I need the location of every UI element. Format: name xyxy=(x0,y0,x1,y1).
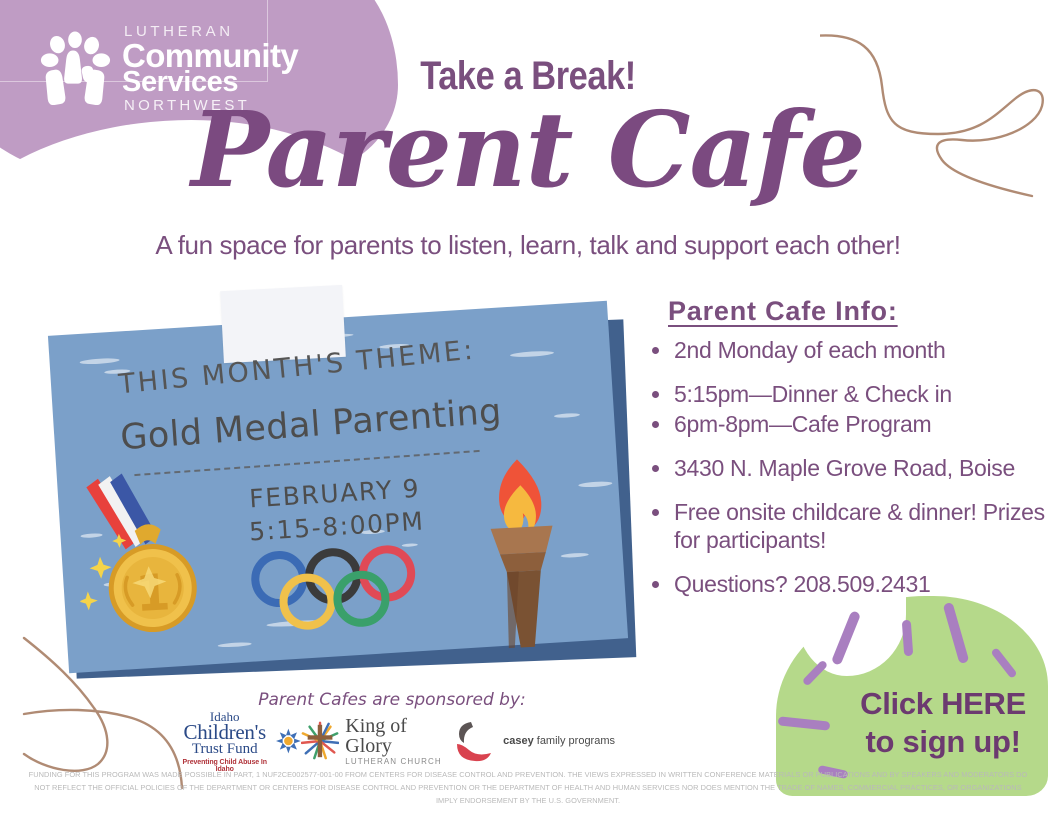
svg-text:1: 1 xyxy=(134,563,172,623)
kog-subtitle: LUTHERAN CHURCH xyxy=(345,758,453,766)
parent-cafe-info-panel: Parent Cafe Info: 2nd Monday of each mon… xyxy=(648,296,1046,614)
theme-date-time: FEBRUARY 9 5:15-8:00PM xyxy=(246,473,425,549)
sponsor-king-of-glory: King of Glory LUTHERAN CHURCH xyxy=(301,716,453,766)
sponsor-casey-family-programs: casey family programs xyxy=(453,718,615,764)
flyer-canvas: LUTHERAN Community Services NORTHWEST Ta… xyxy=(0,0,1056,816)
casey-swoosh-icon xyxy=(453,718,495,764)
gold-medal-icon: 1 xyxy=(74,466,233,644)
ictf-line-3: Trust Fund xyxy=(175,742,274,757)
list-item: 3430 N. Maple Grove Road, Boise xyxy=(648,454,1046,482)
casey-name: casey xyxy=(503,735,534,747)
kog-name: King of Glory xyxy=(345,716,453,756)
list-item: 2nd Monday of each month xyxy=(648,336,1046,364)
ictf-flower-icon xyxy=(276,728,301,754)
sponsor-idaho-childrens-trust-fund: Idaho Children's Trust Fund Preventing C… xyxy=(175,710,301,773)
list-item: Questions? 208.509.2431 xyxy=(648,570,1046,598)
tagline: A fun space for parents to listen, learn… xyxy=(0,230,1056,261)
sign-up-line-2: to sign up! xyxy=(860,723,1026,762)
olympic-torch-icon xyxy=(457,452,597,659)
info-list: 2nd Monday of each month 5:15pm—Dinner &… xyxy=(648,336,1046,598)
king-of-glory-cross-icon xyxy=(301,721,339,761)
sign-up-link[interactable]: Click HERE to sign up! xyxy=(860,685,1026,763)
sign-up-line-1: Click HERE xyxy=(860,685,1026,724)
sponsors-heading: Parent Cafes are sponsored by: xyxy=(172,690,612,710)
funding-disclaimer: FUNDING FOR THIS PROGRAM WAS MADE POSSIB… xyxy=(28,769,1028,808)
casey-subtitle: family programs xyxy=(534,735,615,747)
olympic-rings-icon xyxy=(246,541,430,640)
page-title: Parent Cafe xyxy=(0,95,1056,204)
sponsor-logos-row: Idaho Children's Trust Fund Preventing C… xyxy=(175,712,615,770)
ictf-line-2: Children's xyxy=(175,722,274,743)
list-item: 6pm-8pm—Cafe Program xyxy=(648,410,1046,438)
info-panel-title: Parent Cafe Info: xyxy=(668,296,1046,327)
list-item: Free onsite childcare & dinner! Prizes f… xyxy=(648,498,1046,554)
list-item: 5:15pm—Dinner & Check in xyxy=(648,380,1046,408)
casey-wordmark: casey family programs xyxy=(503,735,615,747)
